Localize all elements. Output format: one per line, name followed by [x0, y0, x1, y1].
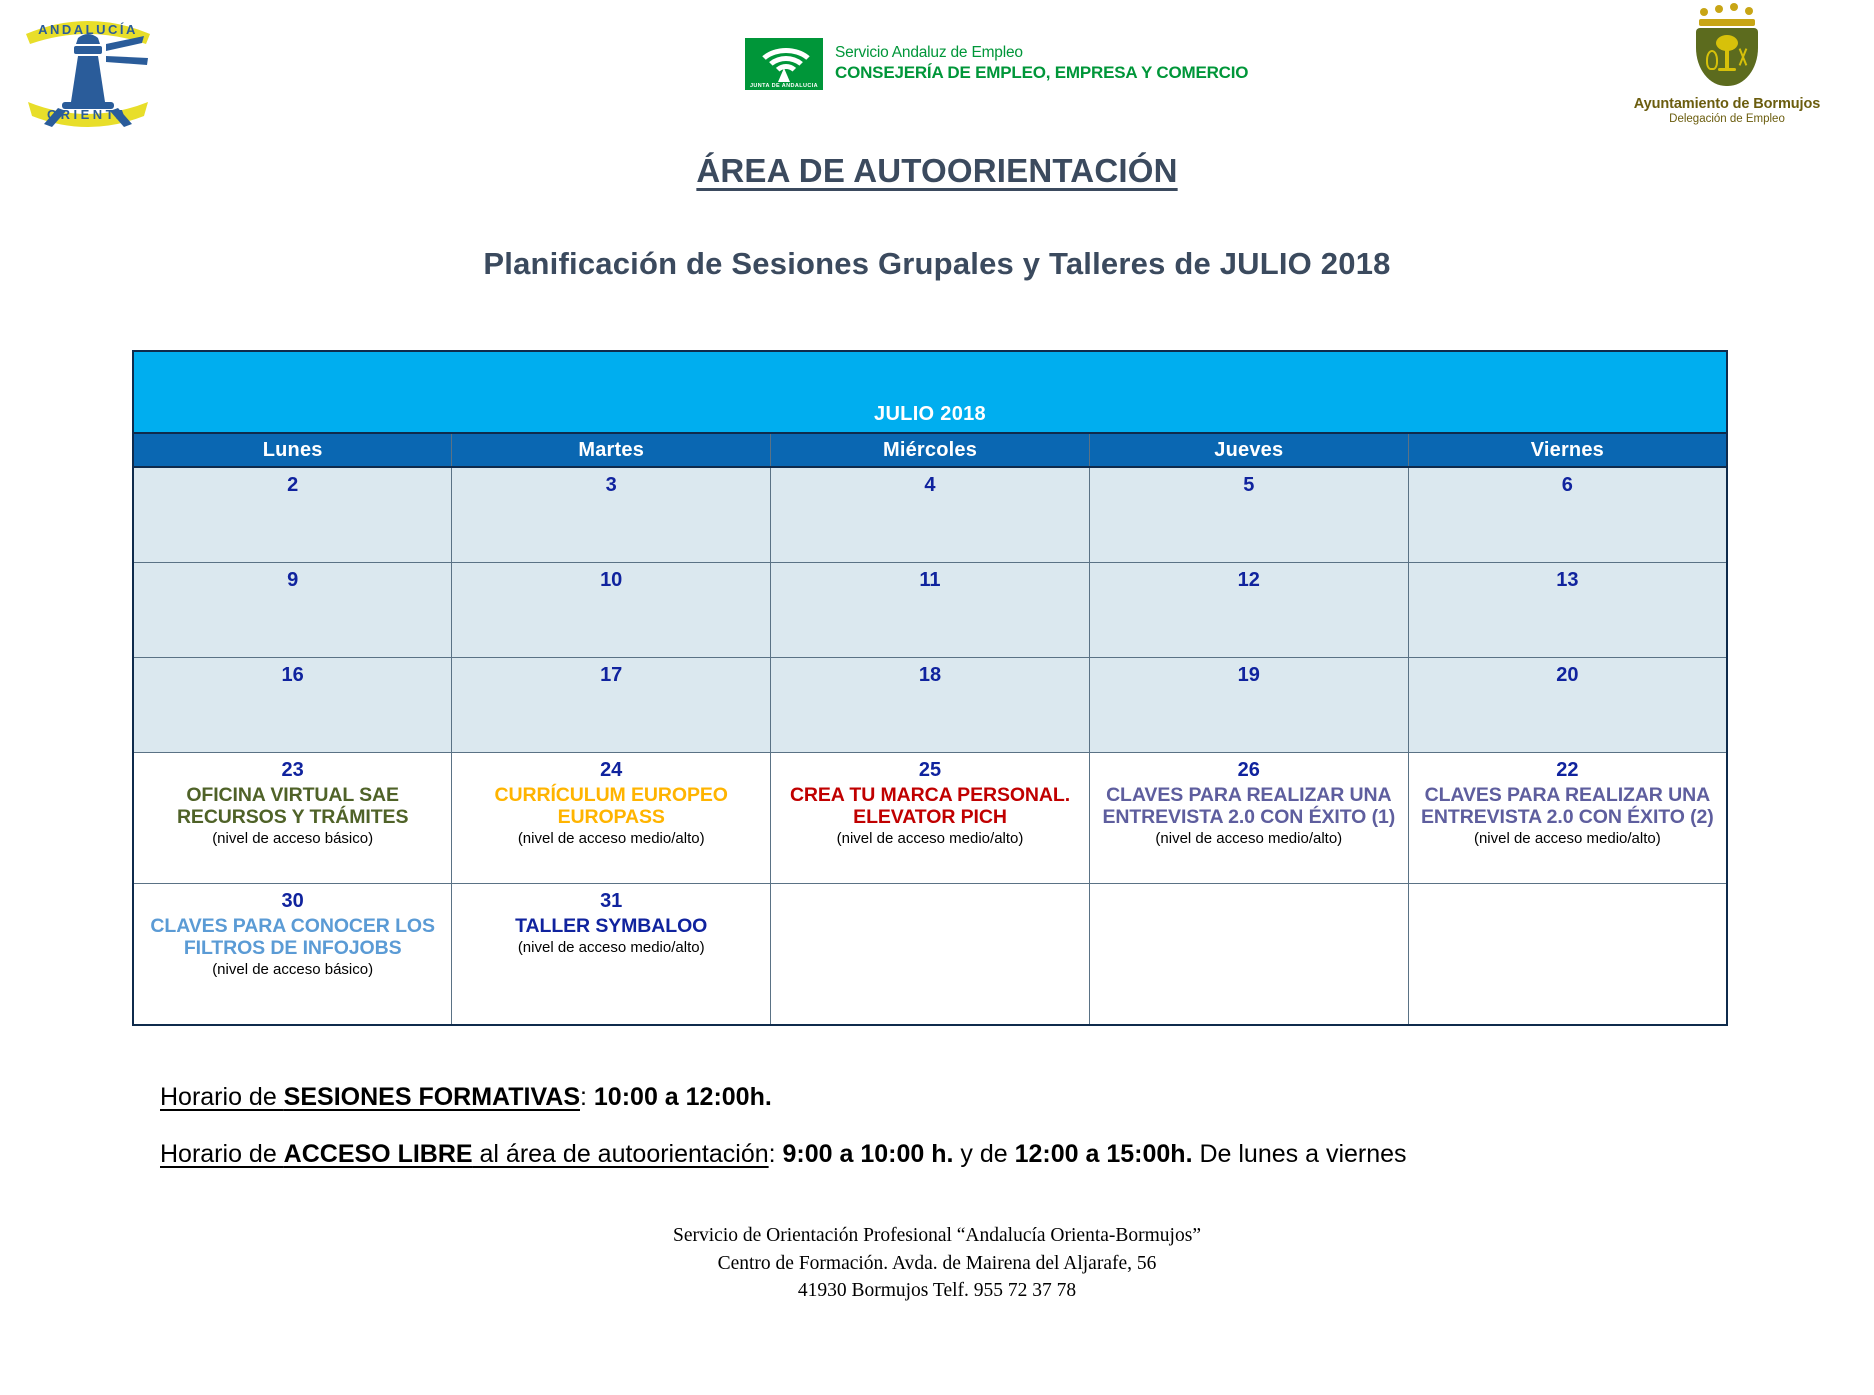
calendar-day-number: 6	[1417, 474, 1718, 497]
calendar-month-row: JULIO 2018	[133, 351, 1727, 433]
calendar-dayname-martes: Martes	[452, 433, 771, 467]
junta-de-andalucia-icon: JUNTA DE ANDALUCIA	[745, 38, 823, 90]
calendar-event-level: (nivel de acceso básico)	[142, 830, 443, 848]
footer-line-3: 41930 Bormujos Telf. 955 72 37 78	[0, 1277, 1874, 1305]
calendar-cell-content: 31TALLER SYMBALOO(nivel de acceso medio/…	[452, 884, 770, 965]
calendar-day-cell: 11	[771, 563, 1090, 658]
calendar-cell-content: 20	[1409, 658, 1726, 695]
calendar-event-title: TALLER SYMBALOO	[460, 915, 762, 937]
calendar-day-cell-event[interactable]: 25CREA TU MARCA PERSONAL. ELEVATOR PICH(…	[771, 753, 1090, 884]
calendar-day-cell-event[interactable]: 26CLAVES PARA REALIZAR UNA ENTREVISTA 2.…	[1089, 753, 1408, 884]
calendar-cell-content: 12	[1090, 563, 1408, 600]
calendar-cell-content: 24CURRÍCULUM EUROPEO EUROPASS(nivel de a…	[452, 753, 770, 856]
calendar-day-cell	[771, 884, 1090, 1026]
calendar-day-number: 23	[142, 759, 443, 782]
calendar-day-cell: 16	[133, 658, 452, 753]
calendar-cell-content	[1409, 884, 1726, 898]
calendar-day-cell: 19	[1089, 658, 1408, 753]
calendar-day-cell-event[interactable]: 30CLAVES PARA CONOCER LOS FILTROS DE INF…	[133, 884, 452, 1026]
calendar-day-number: 17	[460, 664, 762, 687]
calendar-day-number: 4	[779, 474, 1081, 497]
calendar-week-row: 1617181920	[133, 658, 1727, 753]
calendar-day-number: 12	[1098, 569, 1400, 592]
bormujos-logo-line2: Delegación de Empleo	[1632, 113, 1822, 125]
calendar-day-number: 2	[142, 474, 443, 497]
andalucia-orienta-logo: ANDALUCÍA ORIENTA	[18, 4, 158, 132]
calendar-day-cell: 2	[133, 467, 452, 563]
calendar-day-number: 16	[142, 664, 443, 687]
calendar-event-title: CREA TU MARCA PERSONAL. ELEVATOR PICH	[779, 784, 1081, 828]
calendar-day-number: 11	[779, 569, 1081, 592]
page-subtitle: Planificación de Sesiones Grupales y Tal…	[0, 246, 1874, 282]
calendar-event-level: (nivel de acceso medio/alto)	[460, 939, 762, 957]
calendar-event-title: OFICINA VIRTUAL SAE RECURSOS Y TRÁMITES	[142, 784, 443, 828]
calendar-day-cell: 17	[452, 658, 771, 753]
sched2-bold: ACCESO LIBRE	[284, 1140, 473, 1168]
calendar-day-cell-event[interactable]: 23OFICINA VIRTUAL SAE RECURSOS Y TRÁMITE…	[133, 753, 452, 884]
calendar-day-number: 3	[460, 474, 762, 497]
calendar-cell-content: 10	[452, 563, 770, 600]
orienta-top-text: ANDALUCÍA	[38, 22, 138, 37]
calendar-day-number: 22	[1417, 759, 1718, 782]
page-title: ÁREA DE AUTOORIENTACIÓN	[0, 152, 1874, 190]
sched2-sep: :	[769, 1140, 783, 1168]
calendar-day-cell-event[interactable]: 31TALLER SYMBALOO(nivel de acceso medio/…	[452, 884, 771, 1026]
calendar-day-cell: 3	[452, 467, 771, 563]
calendar-cell-content: 13	[1409, 563, 1726, 600]
calendar-day-number: 24	[460, 759, 762, 782]
calendar-day-cell: 12	[1089, 563, 1408, 658]
sae-logo-line2: CONSEJERÍA DE EMPLEO, EMPRESA Y COMERCIO	[835, 63, 1248, 83]
calendar-cell-content	[1090, 884, 1408, 898]
schedule-notes: Horario de SESIONES FORMATIVAS: 10:00 a …	[160, 1082, 1407, 1169]
calendar-week-row: 23OFICINA VIRTUAL SAE RECURSOS Y TRÁMITE…	[133, 753, 1727, 884]
calendar-cell-content: 3	[452, 468, 770, 505]
footer-line-1: Servicio de Orientación Profesional “And…	[0, 1222, 1874, 1250]
schedule-line-acceso-libre: Horario de ACCESO LIBRE al área de autoo…	[160, 1139, 1407, 1170]
calendar-event-level: (nivel de acceso medio/alto)	[779, 830, 1081, 848]
calendar-table: JULIO 2018 Lunes Martes Miércoles Jueves…	[132, 350, 1728, 1026]
calendar-cell-content: 2	[134, 468, 451, 505]
calendar-day-number: 26	[1098, 759, 1400, 782]
page-footer: Servicio de Orientación Profesional “And…	[0, 1222, 1874, 1305]
calendar-day-cell: 6	[1408, 467, 1727, 563]
calendar-day-cell-event[interactable]: 22CLAVES PARA REALIZAR UNA ENTREVISTA 2.…	[1408, 753, 1727, 884]
sched1-bold: SESIONES FORMATIVAS	[284, 1083, 580, 1111]
calendar-cell-content: 23OFICINA VIRTUAL SAE RECURSOS Y TRÁMITE…	[134, 753, 451, 856]
calendar-day-number: 31	[460, 890, 762, 913]
calendar-event-title: CLAVES PARA REALIZAR UNA ENTREVISTA 2.0 …	[1098, 784, 1400, 828]
calendar-event-title: CLAVES PARA CONOCER LOS FILTROS DE INFOJ…	[142, 915, 443, 959]
footer-line-2: Centro de Formación. Avda. de Mairena de…	[0, 1250, 1874, 1278]
calendar-day-cell: 13	[1408, 563, 1727, 658]
calendar-cell-content: 19	[1090, 658, 1408, 695]
calendar-cell-content: 11	[771, 563, 1089, 600]
calendar-event-title: CLAVES PARA REALIZAR UNA ENTREVISTA 2.0 …	[1417, 784, 1718, 828]
calendar-cell-content: 22CLAVES PARA REALIZAR UNA ENTREVISTA 2.…	[1409, 753, 1726, 856]
sched2-value2: 12:00 a 15:00h.	[1015, 1140, 1193, 1168]
calendar-cell-content: 25CREA TU MARCA PERSONAL. ELEVATOR PICH(…	[771, 753, 1089, 856]
sae-logo: JUNTA DE ANDALUCIA Servicio Andaluz de E…	[745, 38, 1248, 90]
calendar-day-number: 10	[460, 569, 762, 592]
calendar-event-level: (nivel de acceso básico)	[142, 961, 443, 979]
calendar-month-label: JULIO 2018	[133, 351, 1727, 433]
calendar-day-number: 20	[1417, 664, 1718, 687]
calendar-cell-content	[771, 884, 1089, 898]
calendar-dayname-row: Lunes Martes Miércoles Jueves Viernes	[133, 433, 1727, 467]
calendar-event-level: (nivel de acceso medio/alto)	[1098, 830, 1400, 848]
sched1-sep: :	[580, 1083, 594, 1111]
calendar-day-cell: 20	[1408, 658, 1727, 753]
orienta-bottom-text: ORIENTA	[47, 107, 129, 122]
calendar-cell-content: 9	[134, 563, 451, 600]
calendar-day-cell: 4	[771, 467, 1090, 563]
calendar-day-cell: 9	[133, 563, 452, 658]
calendar-dayname-jueves: Jueves	[1089, 433, 1408, 467]
calendar-dayname-lunes: Lunes	[133, 433, 452, 467]
calendar-day-number: 9	[142, 569, 443, 592]
page-header: ANDALUCÍA ORIENTA JUNTA DE ANDALUCIA Ser…	[0, 0, 1874, 132]
calendar-dayname-viernes: Viernes	[1408, 433, 1727, 467]
sched1-prefix: Horario de	[160, 1083, 284, 1111]
calendar-week-row: 30CLAVES PARA CONOCER LOS FILTROS DE INF…	[133, 884, 1727, 1026]
sched2-suffix: De lunes a viernes	[1193, 1140, 1407, 1168]
calendar-day-number: 5	[1098, 474, 1400, 497]
sched2-value1: 9:00 a 10:00 h.	[783, 1140, 954, 1168]
bormujos-crest-icon	[1632, 8, 1822, 96]
calendar-week-row: 23456	[133, 467, 1727, 563]
calendar-day-number: 13	[1417, 569, 1718, 592]
calendar-day-cell	[1089, 884, 1408, 1026]
calendar-cell-content: 6	[1409, 468, 1726, 505]
calendar-day-cell	[1408, 884, 1727, 1026]
ayuntamiento-bormujos-logo: Ayuntamiento de Bormujos Delegación de E…	[1632, 8, 1822, 125]
calendar-week-row: 910111213	[133, 563, 1727, 658]
sched1-value: 10:00 a 12:00h.	[594, 1083, 772, 1111]
bormujos-logo-line1: Ayuntamiento de Bormujos	[1632, 96, 1822, 112]
calendar-event-level: (nivel de acceso medio/alto)	[460, 830, 762, 848]
sae-logo-line1: Servicio Andaluz de Empleo	[835, 44, 1248, 62]
calendar-cell-content: 16	[134, 658, 451, 695]
sched2-prefix: Horario de	[160, 1140, 284, 1168]
schedule-line-formativas: Horario de SESIONES FORMATIVAS: 10:00 a …	[160, 1082, 1407, 1113]
calendar-event-title: CURRÍCULUM EUROPEO EUROPASS	[460, 784, 762, 828]
calendar-cell-content: 5	[1090, 468, 1408, 505]
junta-mark-caption: JUNTA DE ANDALUCIA	[745, 83, 823, 89]
calendar-day-cell: 18	[771, 658, 1090, 753]
calendar-cell-content: 17	[452, 658, 770, 695]
sched2-mid: y de	[953, 1140, 1014, 1168]
calendar-cell-content: 18	[771, 658, 1089, 695]
calendar-day-number: 30	[142, 890, 443, 913]
calendar-day-cell: 10	[452, 563, 771, 658]
calendar-day-cell-event[interactable]: 24CURRÍCULUM EUROPEO EUROPASS(nivel de a…	[452, 753, 771, 884]
calendar-day-number: 25	[779, 759, 1081, 782]
calendar-cell-content: 4	[771, 468, 1089, 505]
calendar-cell-content: 26CLAVES PARA REALIZAR UNA ENTREVISTA 2.…	[1090, 753, 1408, 856]
calendar-cell-content: 30CLAVES PARA CONOCER LOS FILTROS DE INF…	[134, 884, 451, 987]
calendar-event-level: (nivel de acceso medio/alto)	[1417, 830, 1718, 848]
calendar-day-number: 18	[779, 664, 1081, 687]
calendar-day-cell: 5	[1089, 467, 1408, 563]
calendar-dayname-miercoles: Miércoles	[771, 433, 1090, 467]
calendar-day-number: 19	[1098, 664, 1400, 687]
sched2-rest: al área de autoorientación	[473, 1140, 769, 1168]
